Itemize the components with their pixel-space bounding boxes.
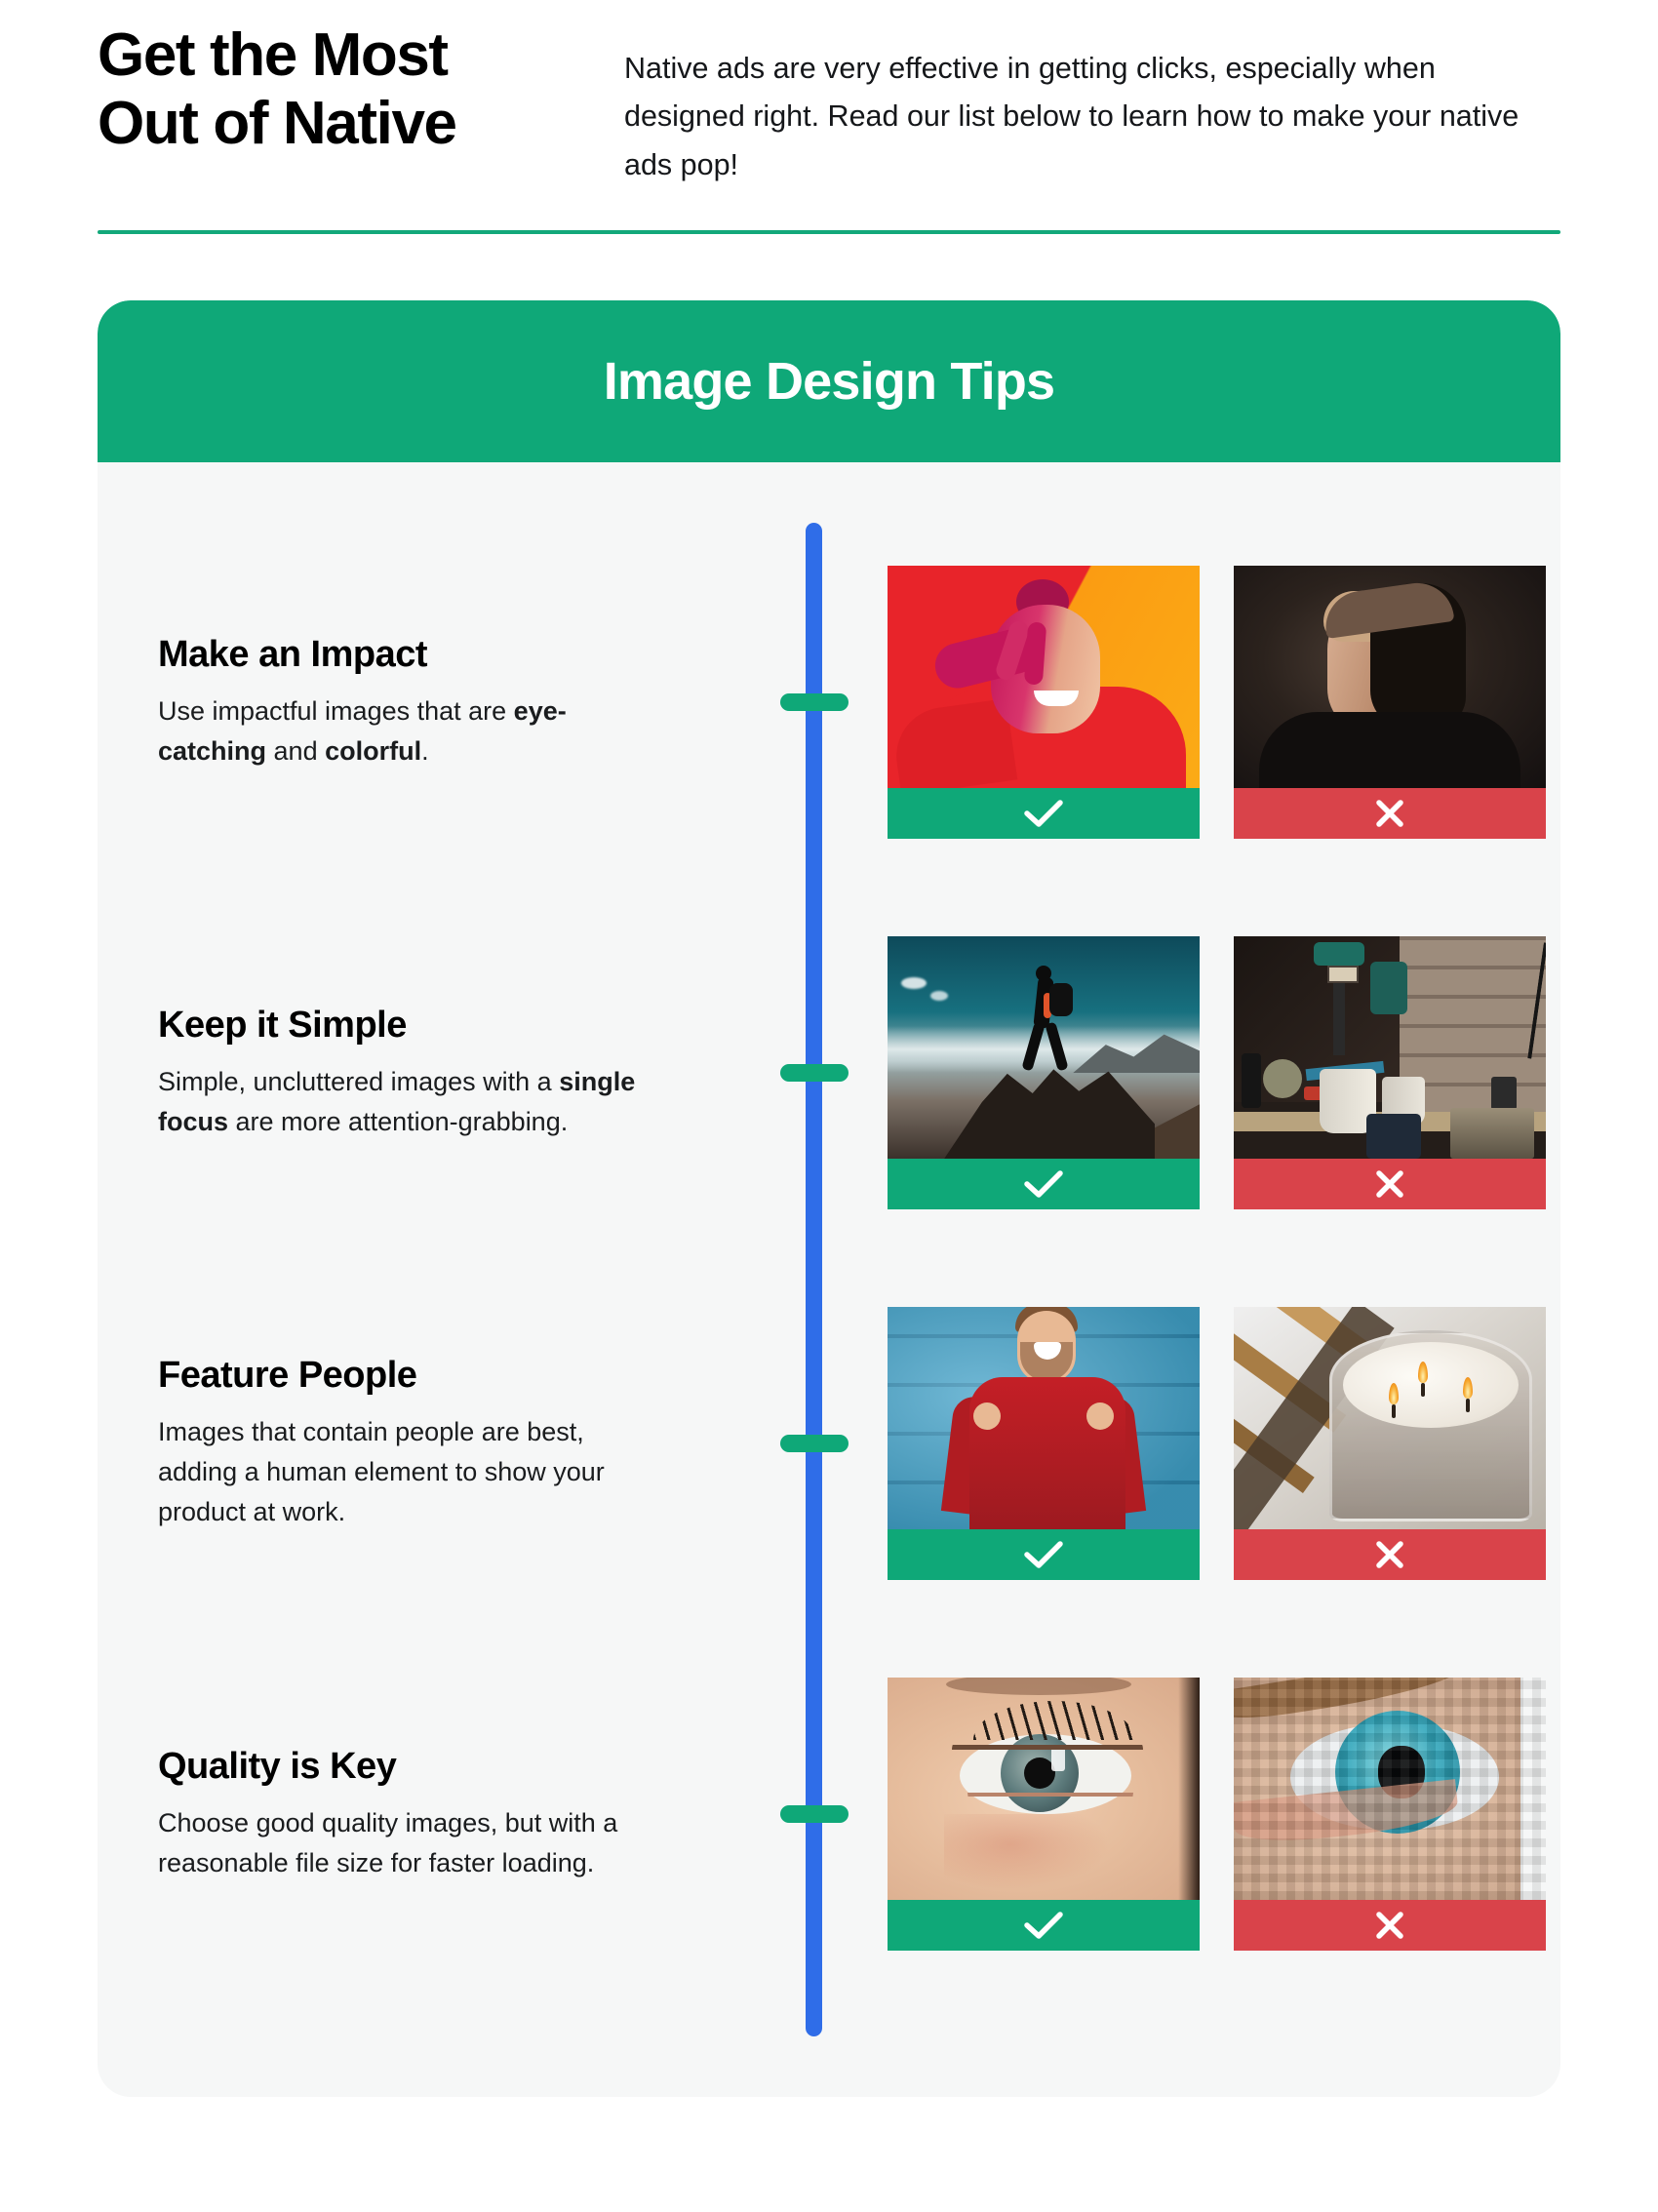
- example-good[interactable]: [888, 1678, 1200, 1951]
- intro-paragraph: Native ads are very effective in getting…: [624, 21, 1560, 189]
- tip-title: Keep it Simple: [158, 1005, 696, 1047]
- photo-pixelated-eye: [1234, 1678, 1546, 1900]
- tip-examples: [888, 1307, 1546, 1580]
- tips-card-body: Make an Impact Use impactful images that…: [98, 462, 1560, 2097]
- page-header: Get the Most Out of Native Native ads ar…: [0, 0, 1658, 189]
- example-good[interactable]: [888, 936, 1200, 1209]
- check-icon: [1022, 1168, 1065, 1200]
- badge-good: [888, 1529, 1200, 1580]
- badge-good: [888, 1159, 1200, 1209]
- cross-icon: [1373, 1538, 1406, 1571]
- timeline-marker: [780, 1064, 849, 1082]
- infographic-page: Get the Most Out of Native Native ads ar…: [0, 0, 1658, 2212]
- tip-examples: [888, 566, 1546, 839]
- check-icon: [1022, 1910, 1065, 1941]
- tip-body: Images that contain people are best, add…: [158, 1412, 646, 1532]
- tip-body: Choose good quality images, but with a r…: [158, 1803, 646, 1883]
- page-title-line-1: Get the Most: [98, 21, 624, 90]
- example-good[interactable]: [888, 1307, 1200, 1580]
- tip-row: Feature People Images that contain peopl…: [98, 1258, 1560, 1629]
- photo-dark-portrait: [1234, 566, 1546, 788]
- tip-row: Make an Impact Use impactful images that…: [98, 517, 1560, 888]
- badge-bad: [1234, 1900, 1546, 1951]
- photo-candle: [1234, 1307, 1546, 1529]
- timeline-marker: [780, 1805, 849, 1823]
- example-good[interactable]: [888, 566, 1200, 839]
- tip-text-block: Make an Impact Use impactful images that…: [98, 634, 731, 771]
- photo-hiker-peak: [888, 936, 1200, 1159]
- badge-bad: [1234, 1529, 1546, 1580]
- tip-body: Use impactful images that are eye-catchi…: [158, 691, 646, 771]
- page-title-line-2: Out of Native: [98, 90, 624, 158]
- photo-colorful-portrait: [888, 566, 1200, 788]
- tip-title: Make an Impact: [158, 634, 696, 676]
- badge-bad: [1234, 788, 1546, 839]
- tip-text-block: Feature People Images that contain peopl…: [98, 1355, 731, 1532]
- tip-examples: [888, 936, 1546, 1209]
- tip-row: Quality is Key Choose good quality image…: [98, 1629, 1560, 1999]
- badge-good: [888, 1900, 1200, 1951]
- example-bad[interactable]: [1234, 1307, 1546, 1580]
- photo-sharp-eye: [888, 1678, 1200, 1900]
- tip-title: Quality is Key: [158, 1746, 696, 1788]
- tip-title: Feature People: [158, 1355, 696, 1397]
- cross-icon: [1373, 1167, 1406, 1201]
- example-bad[interactable]: [1234, 936, 1546, 1209]
- photo-happy-man: [888, 1307, 1200, 1529]
- timeline-marker: [780, 693, 849, 711]
- badge-good: [888, 788, 1200, 839]
- tip-row: Keep it Simple Simple, uncluttered image…: [98, 888, 1560, 1258]
- tip-text-block: Keep it Simple Simple, uncluttered image…: [98, 1005, 731, 1142]
- tip-examples: [888, 1678, 1546, 1951]
- check-icon: [1022, 1539, 1065, 1570]
- example-bad[interactable]: [1234, 1678, 1546, 1951]
- tip-text-block: Quality is Key Choose good quality image…: [98, 1746, 731, 1883]
- tips-card: Image Design Tips Make an Impact Use imp…: [98, 300, 1560, 2097]
- badge-bad: [1234, 1159, 1546, 1209]
- example-bad[interactable]: [1234, 566, 1546, 839]
- photo-cluttered-workshop: [1234, 936, 1546, 1159]
- tips-card-header: Image Design Tips: [98, 300, 1560, 462]
- page-title: Get the Most Out of Native: [98, 21, 624, 158]
- tip-body: Simple, uncluttered images with a single…: [158, 1062, 646, 1142]
- header-divider: [98, 230, 1560, 234]
- timeline-marker: [780, 1435, 849, 1452]
- check-icon: [1022, 798, 1065, 829]
- tips-card-title: Image Design Tips: [604, 351, 1055, 412]
- cross-icon: [1373, 1909, 1406, 1942]
- cross-icon: [1373, 797, 1406, 830]
